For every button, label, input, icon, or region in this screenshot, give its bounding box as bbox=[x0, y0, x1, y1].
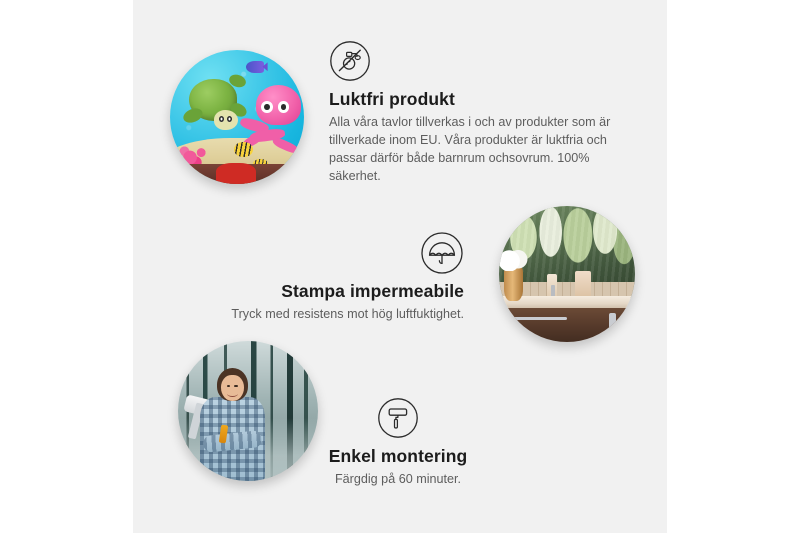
perfume-bottle-crossed-out-icon bbox=[329, 40, 625, 82]
paint-roller-icon bbox=[288, 397, 508, 439]
feature-title: Stampa impermeabile bbox=[200, 281, 464, 302]
smile bbox=[227, 390, 238, 397]
feature-waterproof-print: Stampa impermeabile Tryck med resistens … bbox=[200, 231, 464, 324]
feature-easy-mounting: Enkel montering Färgdig på 60 minuter. bbox=[288, 397, 508, 489]
umbrella-icon bbox=[200, 231, 464, 275]
face bbox=[221, 375, 243, 402]
octopus-eye bbox=[261, 101, 273, 113]
feature-odour-free: Luktfri produkt Alla våra tavlor tillver… bbox=[329, 40, 625, 186]
octopus-head bbox=[256, 85, 302, 125]
photo-underwater-kids-mural bbox=[170, 50, 304, 184]
blue-fish bbox=[246, 61, 263, 73]
white-flowers bbox=[499, 250, 529, 272]
feature-body: Tryck med resistens mot hög luftfuktighe… bbox=[200, 306, 464, 324]
promo-feature-graphic: Luktfri produkt Alla våra tavlor tillver… bbox=[0, 0, 800, 533]
photo-bathroom-vanity bbox=[499, 206, 635, 342]
feature-title: Luktfri produkt bbox=[329, 89, 625, 110]
foreground-red-object bbox=[216, 163, 256, 184]
feature-body: Alla våra tavlor tillverkas i och av pro… bbox=[329, 114, 625, 186]
octopus-eye bbox=[278, 101, 290, 113]
feature-body: Färgdig på 60 minuter. bbox=[288, 471, 508, 489]
wooden-cabinet bbox=[499, 308, 635, 342]
feature-title: Enkel montering bbox=[288, 446, 508, 467]
coral-cluster bbox=[178, 133, 218, 168]
